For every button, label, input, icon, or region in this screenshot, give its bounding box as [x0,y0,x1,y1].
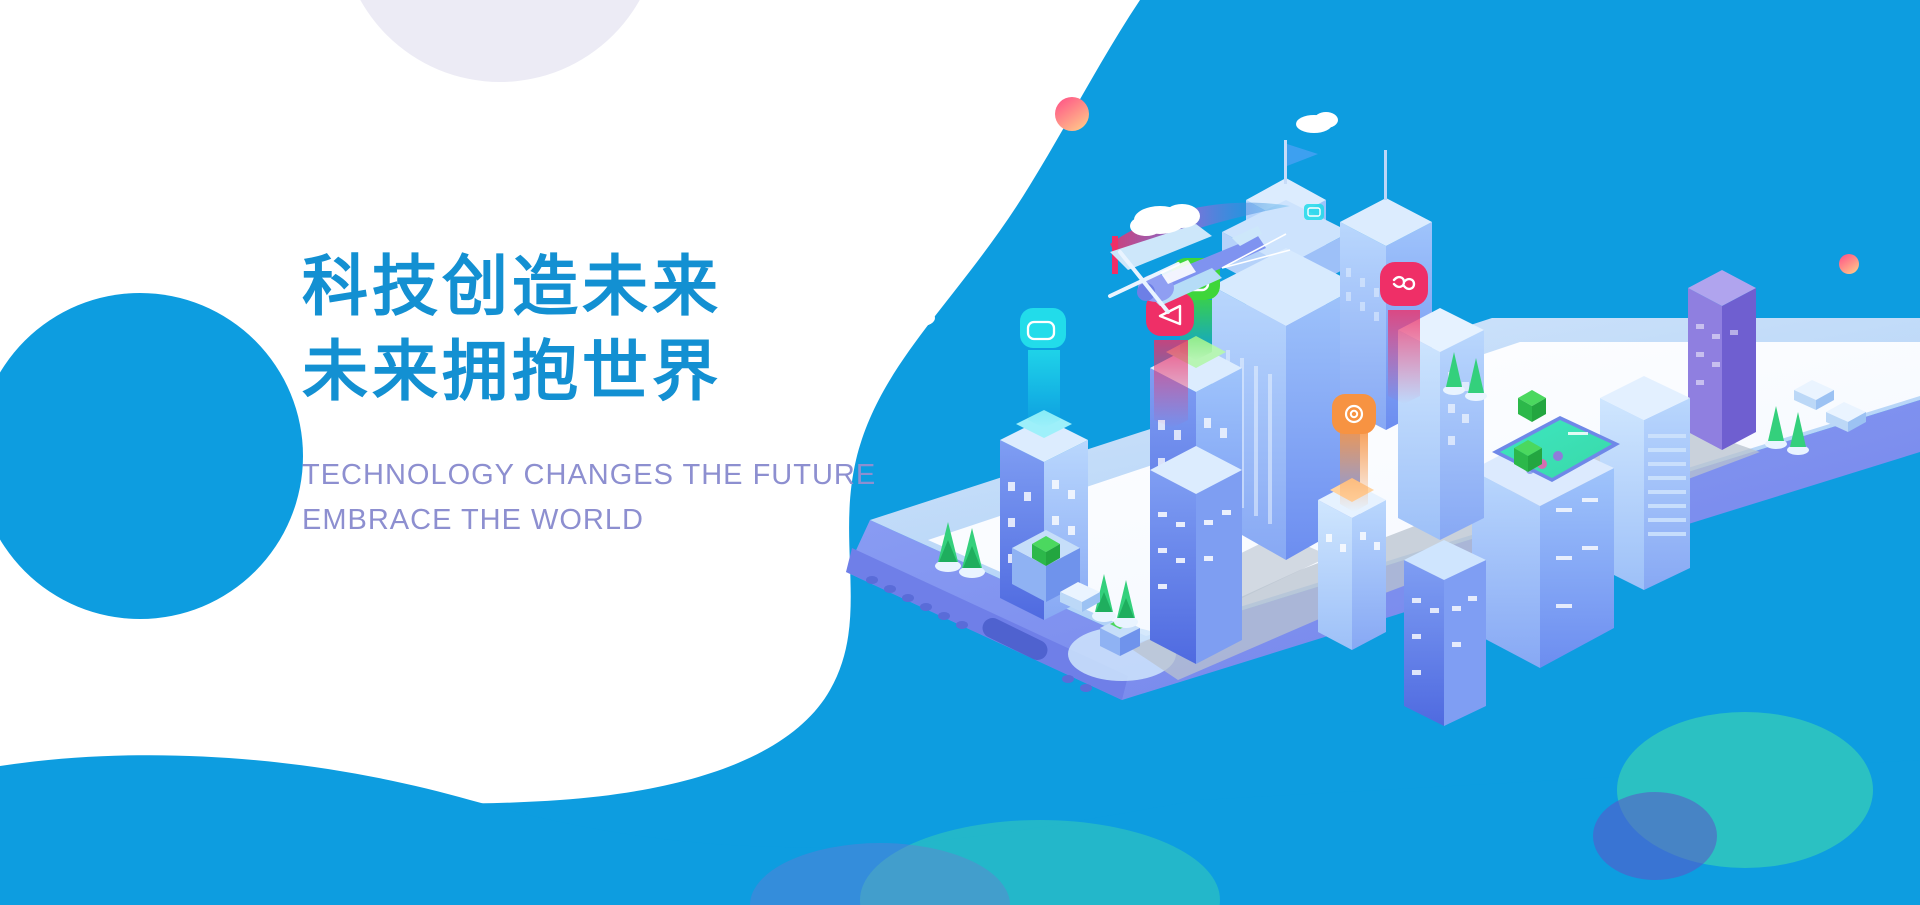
subtitle-block: TECHNOLOGY CHANGES THE FUTURE EMBRACE TH… [302,453,922,543]
copy-block: 科技创造未来 未来拥抱世界 TECHNOLOGY CHANGES THE FUT… [302,248,922,543]
subtitle-line-2: EMBRACE THE WORLD [302,498,922,543]
tower-front-left-dark [1150,446,1242,664]
tower-purple [1688,270,1756,450]
purple-ellipse [1593,792,1717,880]
promo-banner: 科技创造未来 未来拥抱世界 TECHNOLOGY CHANGES THE FUT… [0,0,1920,905]
subtitle-line-1: TECHNOLOGY CHANGES THE FUTURE [302,453,922,498]
blue-circle [0,293,303,619]
chip-icon [1304,204,1324,220]
flagpole [1284,140,1287,184]
pink-sphere-large [1055,97,1089,131]
lavender-circle [340,0,660,82]
tower-front-striped [1404,540,1486,726]
headline-line-1: 科技创造未来 [302,248,922,325]
background-shapes [0,0,1920,905]
pink-sphere-small [1839,254,1859,274]
headline-line-2: 未来拥抱世界 [302,333,922,410]
